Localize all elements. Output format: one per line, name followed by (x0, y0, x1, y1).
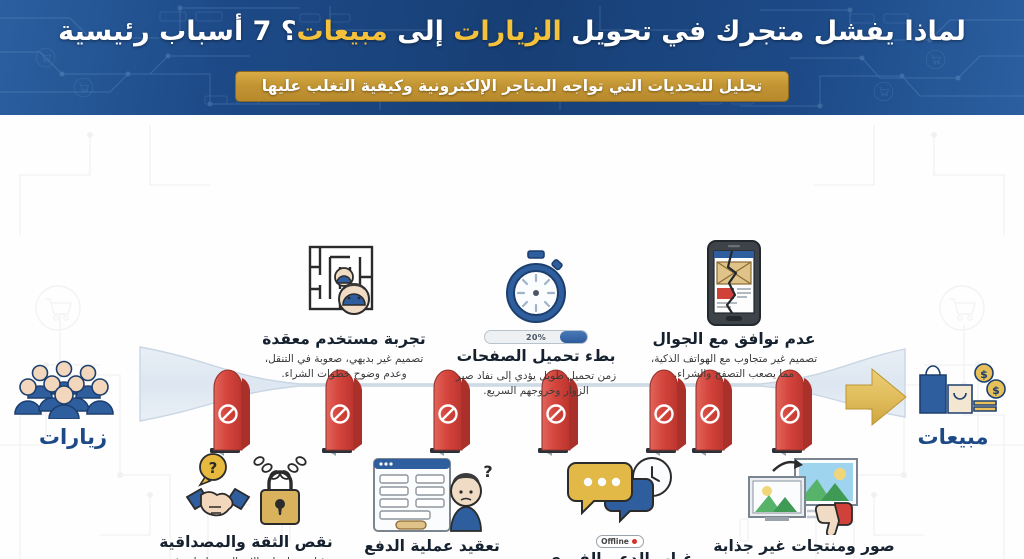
barrier-gate (322, 370, 362, 456)
crowd-of-people-icon (8, 353, 138, 419)
broken-mobile-screen-icon (636, 241, 832, 327)
handshake-question-padlock-icon: ? (148, 445, 344, 531)
progress-value: 20% (485, 331, 587, 343)
page-load-progress-bar: 20% (484, 330, 588, 344)
reason-title: غياب الدعم الفوري (522, 551, 718, 559)
svg-text:?: ? (209, 459, 218, 477)
barrier-gate (646, 370, 686, 456)
reason-title: صور ومنتجات غير جذابة (706, 538, 902, 556)
title-lead: لماذا يفشل متجرك في تحويل (562, 16, 966, 47)
reason-card-ux[interactable]: تجربة مستخدم معقدة تصميم غير بديهي، صعوب… (246, 241, 442, 382)
reason-title: نقص الثقة والمصداقية (148, 534, 344, 552)
title-accent-visits: الزيارات (453, 16, 561, 47)
funnel-start-visits: زيارات (8, 353, 138, 449)
offline-status-dot (632, 539, 637, 544)
shopping-bags-with-coins-icon: $ $ (888, 353, 1018, 419)
reason-desc: تصميم غير بديهي، صعوبة في التنقل، وعدم و… (246, 352, 442, 382)
reason-card-mobile[interactable]: عدم توافق مع الجوال تصميم غير متجاوب مع … (636, 241, 832, 382)
svg-text:$: $ (992, 384, 1000, 397)
offline-status-label: Offline (601, 537, 629, 546)
funnel-end-label: مبيعات (888, 425, 1018, 449)
reason-desc: غياب معلومات الاتصال، سياسات غير واضحة، … (148, 555, 344, 559)
svg-text:$: $ (980, 368, 988, 381)
reason-card-payment[interactable]: ? تعقيد عملية الدفع خطوات دفع متعددة، طل… (334, 449, 530, 559)
reason-card-images[interactable]: صور ومنتجات غير جذابة جودة صور منخفضة، و… (706, 449, 902, 559)
chat-bubbles-clock-icon (522, 449, 718, 535)
subtitle-ribbon-wrap: تحليل للتحديات التي تواجه المتاجر الإلكت… (0, 71, 1024, 102)
barrier-gate (210, 370, 250, 456)
barrier-gate (692, 370, 732, 456)
infographic-canvas: زيارات $ $ مبيعات (0, 115, 1024, 559)
reason-card-trust[interactable]: ? (148, 445, 344, 559)
barrier-gate (772, 370, 812, 456)
reason-title: تجربة مستخدم معقدة (246, 331, 442, 349)
reason-title: بطء تحميل الصفحات (438, 348, 634, 366)
page-header: لماذا يفشل متجرك في تحويل الزيارات إلى م… (0, 0, 1024, 115)
funnel-end-sales: $ $ مبيعات (888, 353, 1018, 449)
reason-title: تعقيد عملية الدفع (334, 538, 530, 556)
title-mid: إلى (388, 16, 454, 47)
reason-card-speed[interactable]: 20% بطء تحميل الصفحات زمن تحميل طويل يؤد… (438, 241, 634, 399)
checkout-form-confused-person-icon: ? (334, 449, 530, 535)
reason-card-support[interactable]: Offline غياب الدعم الفوري عدم توفر خدمة … (522, 449, 718, 559)
maze-with-person-icon (246, 241, 442, 327)
stopwatch-icon (438, 241, 634, 327)
reason-desc: تصميم غير متجاوب مع الهواتف الذكية، مما … (636, 352, 832, 382)
funnel-start-label: زيارات (8, 425, 138, 449)
title-tail: ؟ 7 أسباب رئيسية (58, 16, 296, 47)
reason-title: عدم توافق مع الجوال (636, 331, 832, 349)
photos-thumbs-down-icon (706, 449, 902, 535)
page-title: لماذا يفشل متجرك في تحويل الزيارات إلى م… (0, 16, 1024, 48)
subtitle-ribbon: تحليل للتحديات التي تواجه المتاجر الإلكت… (235, 71, 789, 102)
reason-desc: زمن تحميل طويل يؤدي إلى نفاد صبر الزوار … (438, 369, 634, 399)
svg-text:?: ? (483, 462, 492, 481)
support-status-chip: Offline (522, 529, 718, 548)
title-accent-sales: مبيعات (297, 16, 388, 47)
